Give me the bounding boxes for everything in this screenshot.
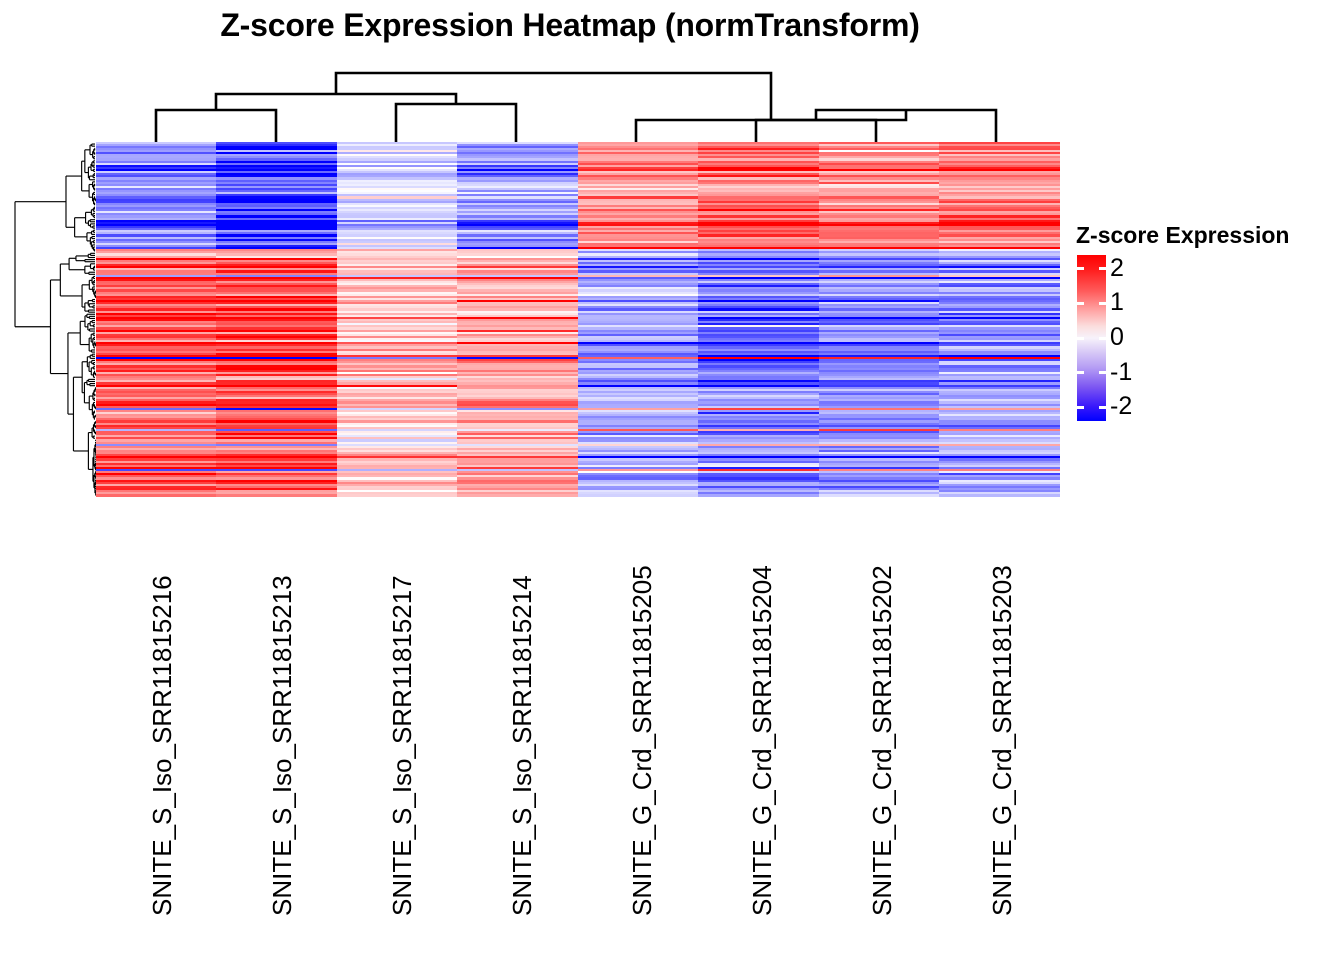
legend-tick-label-1: 1: [1110, 290, 1124, 315]
legend-tick-mark: [1099, 267, 1106, 270]
legend-tick-mark: [1077, 302, 1084, 305]
legend-tick-label-2: 0: [1110, 325, 1124, 350]
legend-tick-mark: [1077, 371, 1084, 374]
column-label-1: SNITE_S_Iso_SRR11815213: [267, 575, 298, 916]
column-label-3: SNITE_S_Iso_SRR11815214: [507, 575, 538, 916]
legend-tick-label-4: -2: [1110, 394, 1132, 419]
column-label-6: SNITE_G_Crd_SRR11815202: [867, 565, 898, 916]
column-label-0: SNITE_S_Iso_SRR11815216: [147, 575, 178, 916]
legend-tick-mark: [1077, 406, 1084, 409]
heatmap-figure: Z-score Expression Heatmap (normTransfor…: [0, 0, 1344, 960]
legend-tick-label-0: 2: [1110, 256, 1124, 281]
column-label-2: SNITE_S_Iso_SRR11815217: [387, 575, 418, 916]
legend-title: Z-score Expression: [1076, 222, 1289, 249]
legend-tick-mark: [1099, 302, 1106, 305]
legend-tick-mark: [1099, 337, 1106, 340]
heatmap-matrix[interactable]: [96, 142, 1060, 497]
column-label-7: SNITE_G_Crd_SRR11815203: [987, 565, 1018, 916]
column-label-5: SNITE_G_Crd_SRR11815204: [747, 565, 778, 916]
legend-tick-mark: [1099, 371, 1106, 374]
legend-tick-mark: [1077, 337, 1084, 340]
legend-tick-mark: [1077, 267, 1084, 270]
legend-tick-label-3: -1: [1110, 360, 1132, 385]
legend: Z-score Expression 210-1-2: [1076, 222, 1326, 437]
heatmap-canvas[interactable]: [96, 142, 1060, 497]
column-label-4: SNITE_G_Crd_SRR11815205: [627, 565, 658, 916]
legend-tick-mark: [1099, 406, 1106, 409]
